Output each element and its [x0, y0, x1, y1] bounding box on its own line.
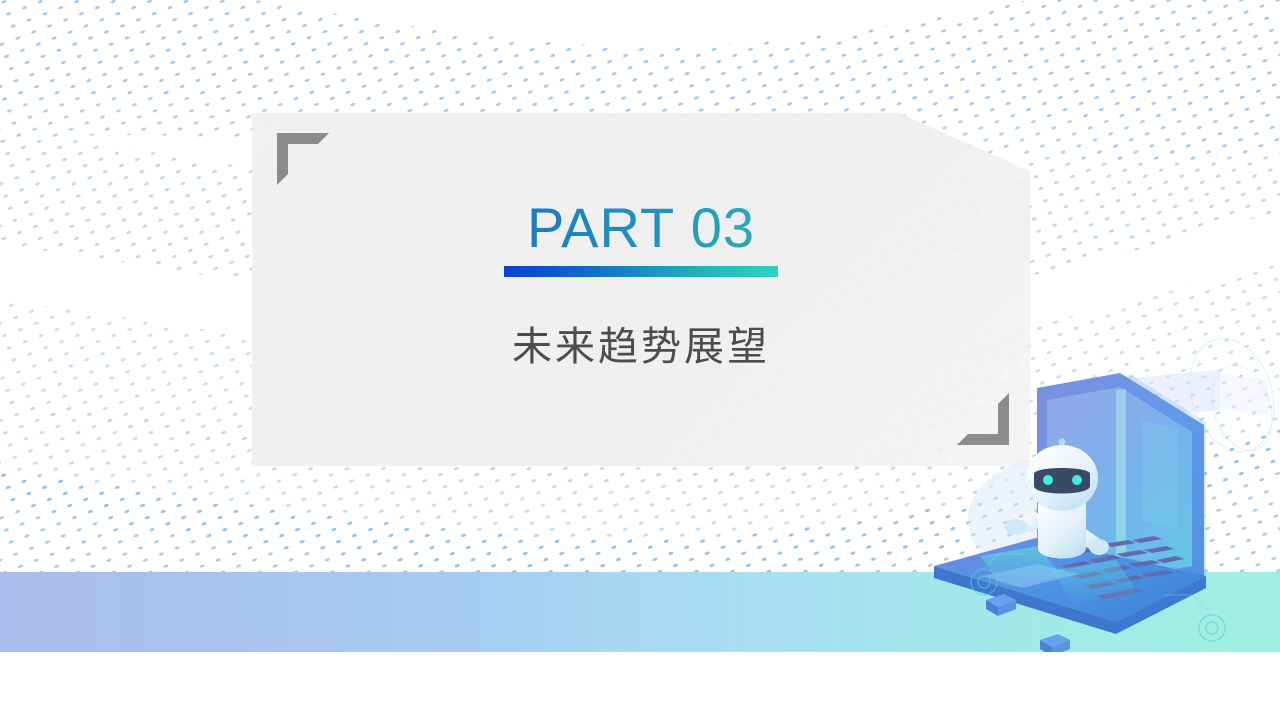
section-part-label: PART 03 — [252, 195, 1030, 261]
slide-canvas: PART 03 未来趋势展望 — [0, 0, 1280, 720]
section-card — [252, 113, 1030, 466]
bottom-gradient-band — [0, 572, 1280, 652]
corner-bracket-top-left-icon — [277, 133, 329, 185]
slide-footer: 深圳市和讯华谷信息技术有限公司 版权所有 © 2011-2025 粤ICP备12… — [0, 652, 1280, 720]
title-underline-bar — [504, 266, 778, 277]
section-title: 未来趋势展望 — [252, 320, 1030, 374]
corner-bracket-bottom-right-icon — [957, 393, 1009, 445]
